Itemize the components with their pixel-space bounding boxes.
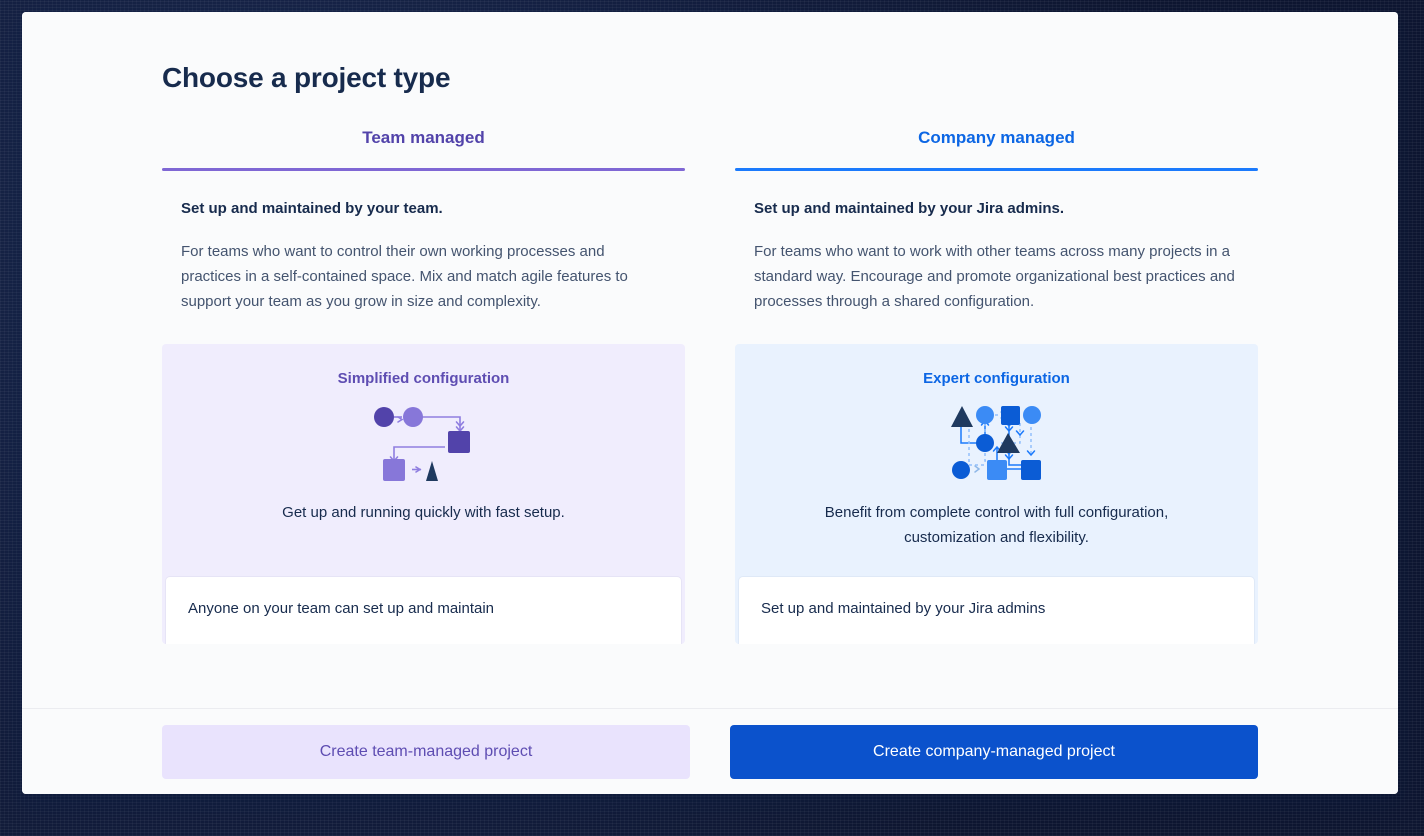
description-company-managed: For teams who want to work with other te… <box>754 239 1239 314</box>
page-title: Choose a project type <box>162 62 1398 94</box>
description-team-managed: For teams who want to control their own … <box>181 239 666 314</box>
tab-underline-company-managed <box>735 168 1258 171</box>
create-team-managed-project-button[interactable]: Create team-managed project <box>162 725 690 779</box>
detail-panel-team-managed: Anyone on your team can set up and maint… <box>166 577 681 644</box>
tab-company-managed[interactable]: Company managed <box>735 128 1258 168</box>
feature-subtitle-company-managed: Benefit from complete control with full … <box>797 500 1197 550</box>
project-type-columns: Team managed Set up and maintained by yo… <box>162 128 1258 644</box>
lead-text-team-managed: Set up and maintained by your team. <box>181 200 685 217</box>
lead-text-company-managed: Set up and maintained by your Jira admin… <box>754 200 1258 217</box>
column-team-managed: Team managed Set up and maintained by yo… <box>162 128 685 644</box>
tab-underline-team-managed <box>162 168 685 171</box>
simple-workflow-diagram-icon <box>162 403 685 481</box>
feature-card-company-managed: Expert configuration <box>735 344 1258 644</box>
feature-subtitle-team-managed: Get up and running quickly with fast set… <box>224 500 624 525</box>
feature-title-expert-configuration: Expert configuration <box>735 370 1258 387</box>
column-company-managed: Company managed Set up and maintained by… <box>735 128 1258 644</box>
create-company-managed-project-button[interactable]: Create company-managed project <box>730 725 1258 779</box>
detail-row-company-managed: Set up and maintained by your Jira admin… <box>761 597 1232 621</box>
detail-panel-company-managed: Set up and maintained by your Jira admin… <box>739 577 1254 644</box>
dialog-body: Choose a project type Team managed Set u… <box>22 12 1398 708</box>
feature-card-team-managed: Simplified configuration <box>162 344 685 644</box>
footer-actions: Create team-managed project Create compa… <box>162 709 1258 779</box>
complex-workflow-diagram-icon <box>735 403 1258 481</box>
feature-title-simplified-configuration: Simplified configuration <box>162 370 685 387</box>
choose-project-type-dialog: Choose a project type Team managed Set u… <box>22 12 1398 794</box>
dialog-footer: Create team-managed project Create compa… <box>22 708 1398 794</box>
detail-row-team-managed: Anyone on your team can set up and maint… <box>188 597 659 621</box>
tab-team-managed[interactable]: Team managed <box>162 128 685 168</box>
